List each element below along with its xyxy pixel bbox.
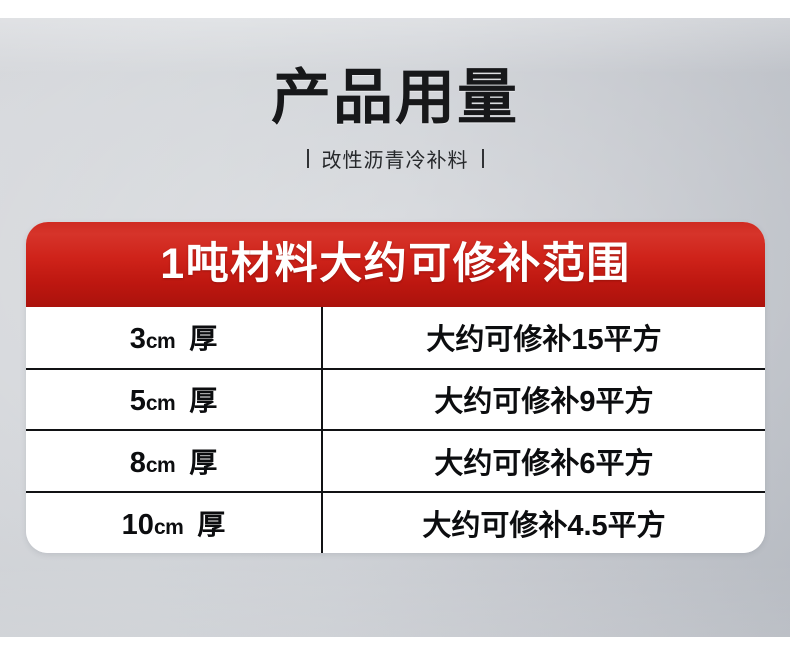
- thickness-value: 5: [130, 385, 146, 417]
- table-cell-coverage: 大约可修补9平方: [322, 369, 765, 431]
- table-cell-coverage: 大约可修补6平方: [322, 430, 765, 492]
- coverage-table: 3cm厚 大约可修补15平方 5cm厚 大约可修补9平方: [26, 307, 765, 553]
- thickness-label: 8cm厚: [130, 441, 218, 481]
- thickness-label: 5cm厚: [130, 379, 218, 419]
- table-cell-coverage: 大约可修补4.5平方: [322, 492, 765, 554]
- coverage-label: 大约可修补9平方: [434, 378, 653, 420]
- thickness-value: 8: [130, 447, 146, 479]
- thickness-word: 厚: [189, 447, 217, 478]
- table-cell-thickness: 10cm厚: [26, 492, 322, 554]
- table-cell-thickness: 8cm厚: [26, 430, 322, 492]
- thickness-label: 3cm厚: [130, 317, 218, 357]
- thickness-value: 10: [122, 509, 154, 541]
- coverage-card: 1吨材料大约可修补范围 3cm厚 大约可修补15平方: [26, 222, 765, 553]
- product-usage-infographic: 产品用量 改性沥青冷补料 1吨材料大约可修补范围 3cm厚 大约可修补15平方: [0, 0, 790, 651]
- table-cell-thickness: 3cm厚: [26, 307, 322, 369]
- heading-block: 产品用量 改性沥青冷补料: [0, 66, 790, 173]
- table-row: 3cm厚 大约可修补15平方: [26, 307, 765, 369]
- thickness-word: 厚: [189, 385, 217, 416]
- thickness-unit: cm: [146, 392, 175, 415]
- table-cell-thickness: 5cm厚: [26, 369, 322, 431]
- table-row: 10cm厚 大约可修补4.5平方: [26, 492, 765, 554]
- subtitle-text: 改性沥青冷补料: [322, 144, 469, 173]
- thickness-unit: cm: [154, 516, 183, 539]
- card-header-title: 1吨材料大约可修补范围: [160, 243, 630, 286]
- table-row: 8cm厚 大约可修补6平方: [26, 430, 765, 492]
- coverage-label: 大约可修补6平方: [434, 440, 653, 482]
- table-row: 5cm厚 大约可修补9平方: [26, 369, 765, 431]
- thickness-word: 厚: [189, 323, 217, 354]
- thickness-word: 厚: [197, 509, 225, 540]
- table-cell-coverage: 大约可修补15平方: [322, 307, 765, 369]
- page-subtitle: 改性沥青冷补料: [0, 144, 790, 173]
- thickness-unit: cm: [146, 330, 175, 353]
- thickness-unit: cm: [146, 454, 175, 477]
- page-title: 产品用量: [0, 66, 790, 131]
- card-header-banner: 1吨材料大约可修补范围: [26, 222, 765, 307]
- subtitle-left-bar-icon: [307, 149, 309, 168]
- subtitle-right-bar-icon: [482, 149, 484, 168]
- coverage-label: 大约可修补15平方: [426, 316, 661, 358]
- thickness-value: 3: [130, 323, 146, 355]
- coverage-label: 大约可修补4.5平方: [422, 502, 665, 544]
- thickness-label: 10cm厚: [122, 503, 226, 543]
